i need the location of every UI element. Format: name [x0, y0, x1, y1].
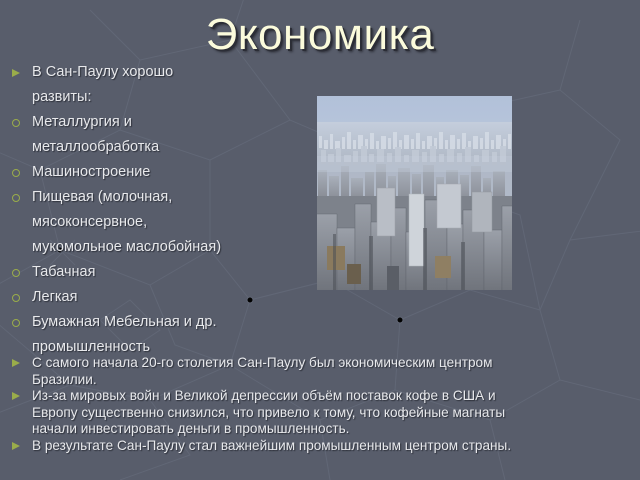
list-item-line: В результате Сан-Паулу стал важнейшим пр… [32, 438, 640, 455]
list-item-line: начали инвестировать деньги в промышленн… [32, 421, 640, 438]
list-item-line: Из-за мировых войн и Великой депрессии о… [32, 388, 640, 405]
triangle-bullet-icon [12, 388, 26, 405]
list-item-line: Табачная [32, 260, 640, 285]
list-item: Металлургия и металлообработка [0, 110, 640, 160]
triangle-bullet-icon [12, 355, 26, 372]
triangle-bullet-icon [12, 438, 26, 455]
circle-bullet-icon [12, 160, 26, 185]
circle-bullet-icon [12, 185, 26, 210]
list-item-line: Европу существенно снизился, что привело… [32, 405, 640, 422]
circle-bullet-icon [12, 110, 26, 135]
list-item-line: мясоконсервное, [32, 210, 640, 235]
list-item: Легкая [0, 285, 640, 310]
circle-bullet-icon [12, 285, 26, 310]
list-item-line: мукомольное маслобойная) [32, 235, 640, 260]
list-item-line: С самого начала 20-го столетия Сан-Паулу… [32, 355, 640, 372]
list-item-line: В Сан-Паулу хорошо [32, 60, 640, 85]
list-item-line: Бумажная Мебельная и др. [32, 310, 640, 335]
list-item-line: металлообработка [32, 135, 640, 160]
presentation-slide: Экономика [0, 0, 640, 480]
list-item-line: Легкая [32, 285, 640, 310]
list-item: Бумажная Мебельная и др. промышленность [0, 310, 640, 360]
list-item-line: Бразилии. [32, 372, 640, 389]
list-item: Машиностроение [0, 160, 640, 185]
bullet-list-tail: С самого начала 20-го столетия Сан-Паулу… [0, 355, 640, 454]
list-item: В результате Сан-Паулу стал важнейшим пр… [0, 438, 640, 455]
list-item-line: Машиностроение [32, 160, 640, 185]
bullet-list-main: В Сан-Паулу хорошо развиты: Металлургия … [0, 60, 640, 360]
list-item: В Сан-Паулу хорошо развиты: [0, 60, 640, 110]
list-item: Табачная [0, 260, 640, 285]
list-item-line: развиты: [32, 85, 640, 110]
list-item-line: Металлургия и [32, 110, 640, 135]
list-item: Пищевая (молочная, мясоконсервное, муком… [0, 185, 640, 260]
circle-bullet-icon [12, 260, 26, 285]
list-item: С самого начала 20-го столетия Сан-Паулу… [0, 355, 640, 388]
triangle-bullet-icon [12, 60, 26, 85]
circle-bullet-icon [12, 310, 26, 335]
list-item-line: Пищевая (молочная, [32, 185, 640, 210]
page-title: Экономика [0, 8, 640, 62]
list-item: Из-за мировых войн и Великой депрессии о… [0, 388, 640, 438]
